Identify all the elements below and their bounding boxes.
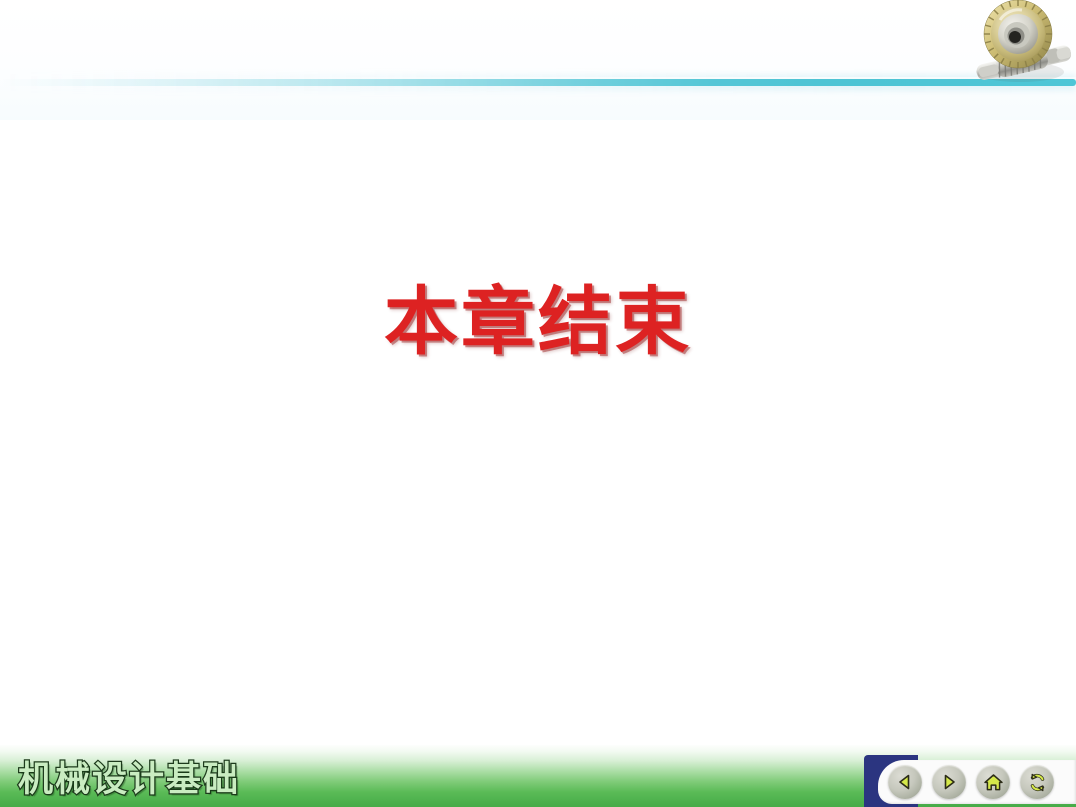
slide-title-block: 本章结束	[0, 283, 1076, 363]
home-icon	[983, 772, 1004, 793]
slide-title: 本章结束	[384, 283, 692, 363]
top-background-tint	[0, 0, 1076, 120]
refresh-button[interactable]: 返回	[1020, 765, 1054, 799]
worm-gear-icon	[958, 0, 1076, 102]
footer-top-highlight	[0, 744, 1076, 745]
course-title: 机械设计基础	[18, 763, 240, 798]
forward-button[interactable]: 下一页	[932, 765, 966, 799]
navigation-panel: 上一页 下一页 首页 返回	[864, 755, 1076, 807]
refresh-icon	[1027, 772, 1048, 793]
triangle-left-icon	[895, 772, 915, 792]
triangle-right-icon	[939, 772, 959, 792]
presentation-slide: 本章结束 机械设计基础 上一页 下一页 首页	[0, 0, 1076, 807]
header-divider	[0, 70, 1076, 94]
nav-button-group: 上一页 下一页 首页 返回	[888, 761, 1054, 803]
divider-highlight	[0, 77, 1076, 79]
divider-line	[0, 79, 1076, 86]
home-button[interactable]: 首页	[976, 765, 1010, 799]
back-button[interactable]: 上一页	[888, 765, 922, 799]
